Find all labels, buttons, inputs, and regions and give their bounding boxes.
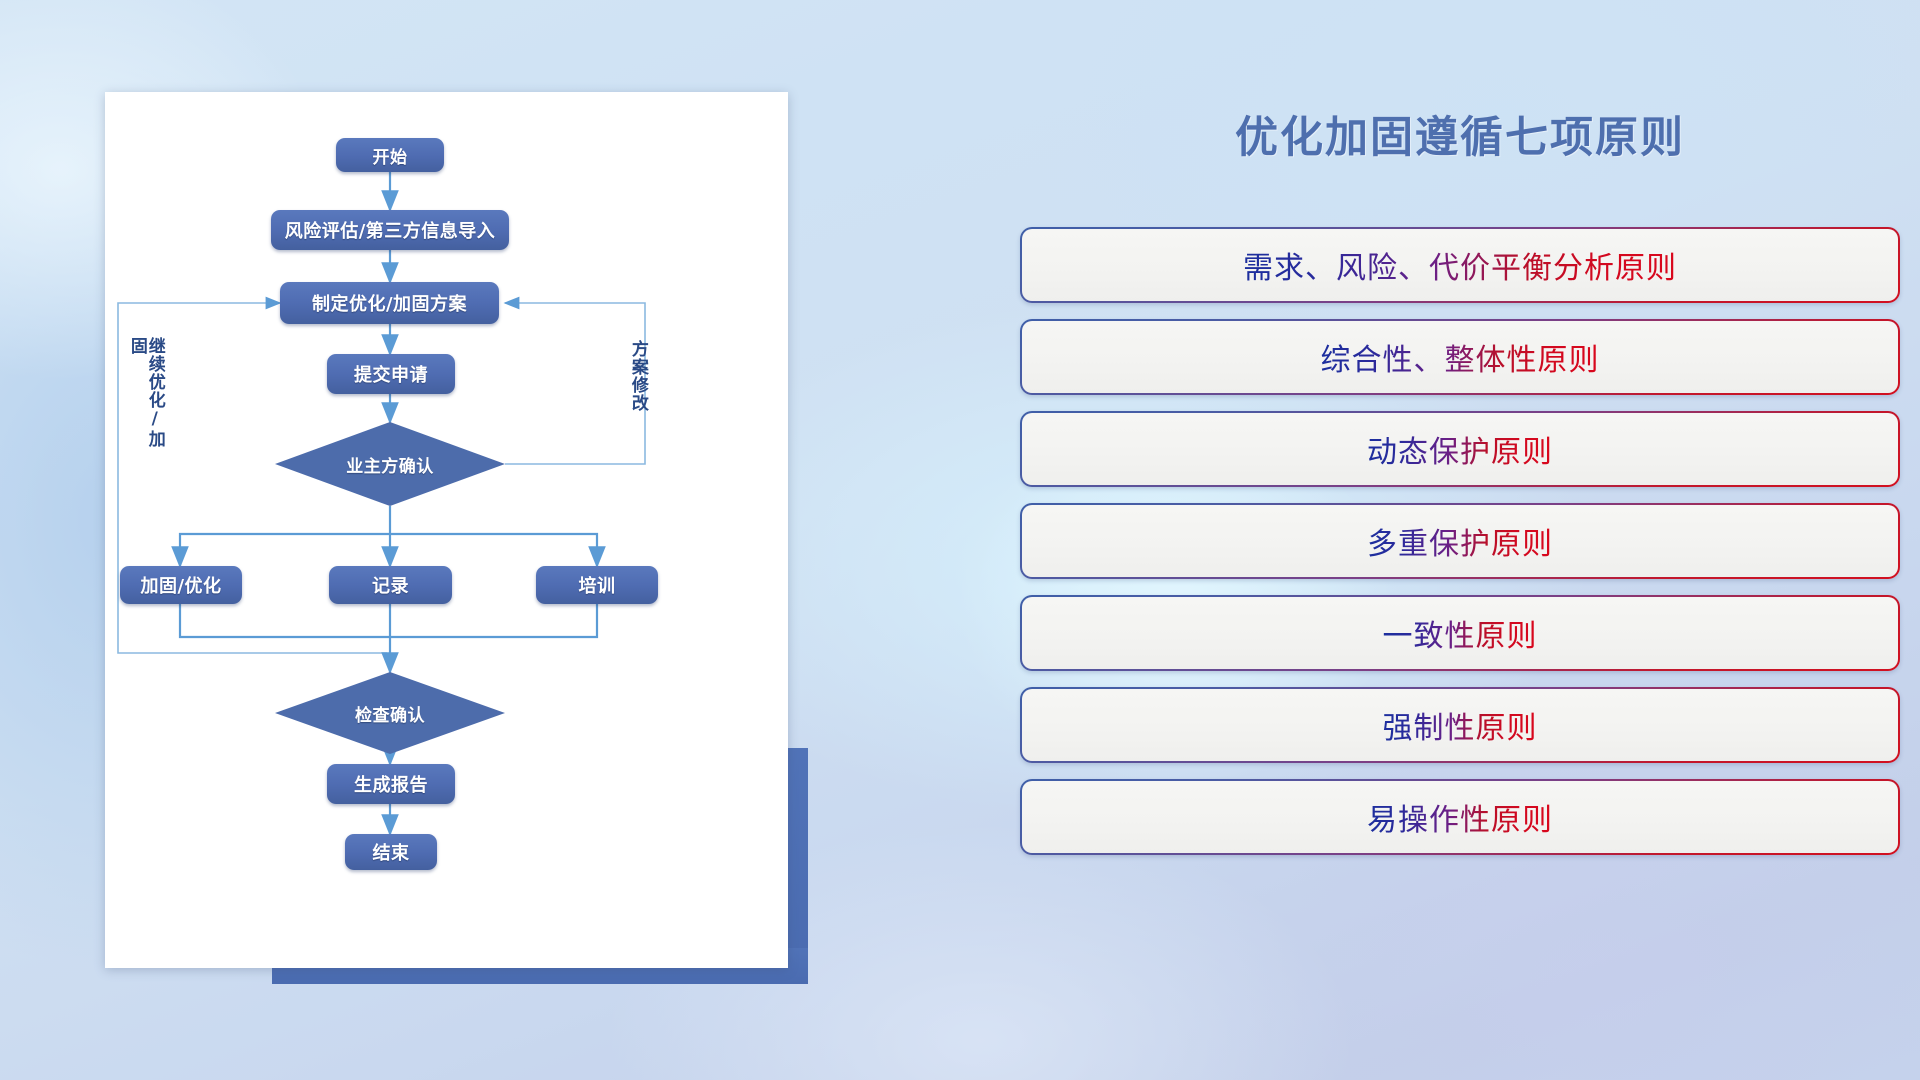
principle-item-label: 易操作性原则 <box>1367 795 1553 839</box>
flow-node-reinforce-label: 加固/优化 <box>140 572 221 598</box>
principle-item[interactable]: 易操作性原则 <box>1020 779 1900 855</box>
principle-item-label: 多重保护原则 <box>1367 519 1553 563</box>
principle-item-label: 强制性原则 <box>1383 703 1538 747</box>
flow-node-start-label: 开始 <box>373 143 408 168</box>
principles-list: 需求、风险、代价平衡分析原则 综合性、整体性原则 动态保护原则 多重保护原则 一… <box>1020 227 1900 871</box>
flow-node-record-label: 记录 <box>372 572 409 598</box>
flow-node-check-confirm-label: 检查确认 <box>355 701 425 726</box>
principle-item-label: 动态保护原则 <box>1367 427 1553 471</box>
principle-item-inner: 一致性原则 <box>1022 597 1898 669</box>
principle-item-label: 综合性、整体性原则 <box>1321 335 1600 379</box>
principle-item-inner: 强制性原则 <box>1022 689 1898 761</box>
principle-item-inner: 易操作性原则 <box>1022 781 1898 853</box>
flowchart: 开始 风险评估/第三方信息导入 制定优化/加固方案 提交申请 业主方确认 加固/… <box>105 92 788 968</box>
flow-node-risk-assessment[interactable]: 风险评估/第三方信息导入 <box>271 210 509 250</box>
principle-item[interactable]: 综合性、整体性原则 <box>1020 319 1900 395</box>
flow-node-reinforce[interactable]: 加固/优化 <box>120 566 242 604</box>
flow-node-start[interactable]: 开始 <box>336 138 444 172</box>
flow-node-risk-assessment-label: 风险评估/第三方信息导入 <box>285 217 496 243</box>
flow-node-training-label: 培训 <box>579 572 616 598</box>
principle-item[interactable]: 动态保护原则 <box>1020 411 1900 487</box>
principle-item[interactable]: 多重保护原则 <box>1020 503 1900 579</box>
flow-node-end-label: 结束 <box>373 839 410 865</box>
flow-node-check-confirm[interactable]: 检查确认 <box>275 672 505 754</box>
principle-item-inner: 动态保护原则 <box>1022 413 1898 485</box>
flow-node-report-label: 生成报告 <box>354 771 428 797</box>
principle-item-inner: 需求、风险、代价平衡分析原则 <box>1022 229 1898 301</box>
flow-node-submit-label: 提交申请 <box>354 361 428 387</box>
principle-item-label: 一致性原则 <box>1383 611 1538 655</box>
flow-node-owner-confirm[interactable]: 业主方确认 <box>275 422 505 506</box>
flow-node-plan-label: 制定优化/加固方案 <box>312 290 467 316</box>
principle-item-inner: 多重保护原则 <box>1022 505 1898 577</box>
principle-item[interactable]: 一致性原则 <box>1020 595 1900 671</box>
flow-node-owner-confirm-label: 业主方确认 <box>346 452 434 477</box>
principle-item[interactable]: 强制性原则 <box>1020 687 1900 763</box>
flow-node-plan[interactable]: 制定优化/加固方案 <box>280 282 499 324</box>
flow-node-submit[interactable]: 提交申请 <box>327 354 455 394</box>
flowchart-card: 开始 风险评估/第三方信息导入 制定优化/加固方案 提交申请 业主方确认 加固/… <box>105 92 788 968</box>
flow-node-end[interactable]: 结束 <box>345 834 437 870</box>
principle-item[interactable]: 需求、风险、代价平衡分析原则 <box>1020 227 1900 303</box>
flow-edge-label-continue-optimize: 继续优化/加固 <box>127 337 163 457</box>
principle-item-inner: 综合性、整体性原则 <box>1022 321 1898 393</box>
flow-node-report[interactable]: 生成报告 <box>327 764 455 804</box>
flow-node-record[interactable]: 记录 <box>329 566 452 604</box>
principles-panel: 优化加固遵循七项原则 需求、风险、代价平衡分析原则 综合性、整体性原则 动态保护… <box>1020 0 1920 1080</box>
principles-title: 优化加固遵循七项原则 <box>1020 103 1900 165</box>
flow-node-training[interactable]: 培训 <box>536 566 658 604</box>
flow-edge-label-plan-revision: 方案修改 <box>628 340 646 432</box>
principle-item-label: 需求、风险、代价平衡分析原则 <box>1243 243 1677 287</box>
